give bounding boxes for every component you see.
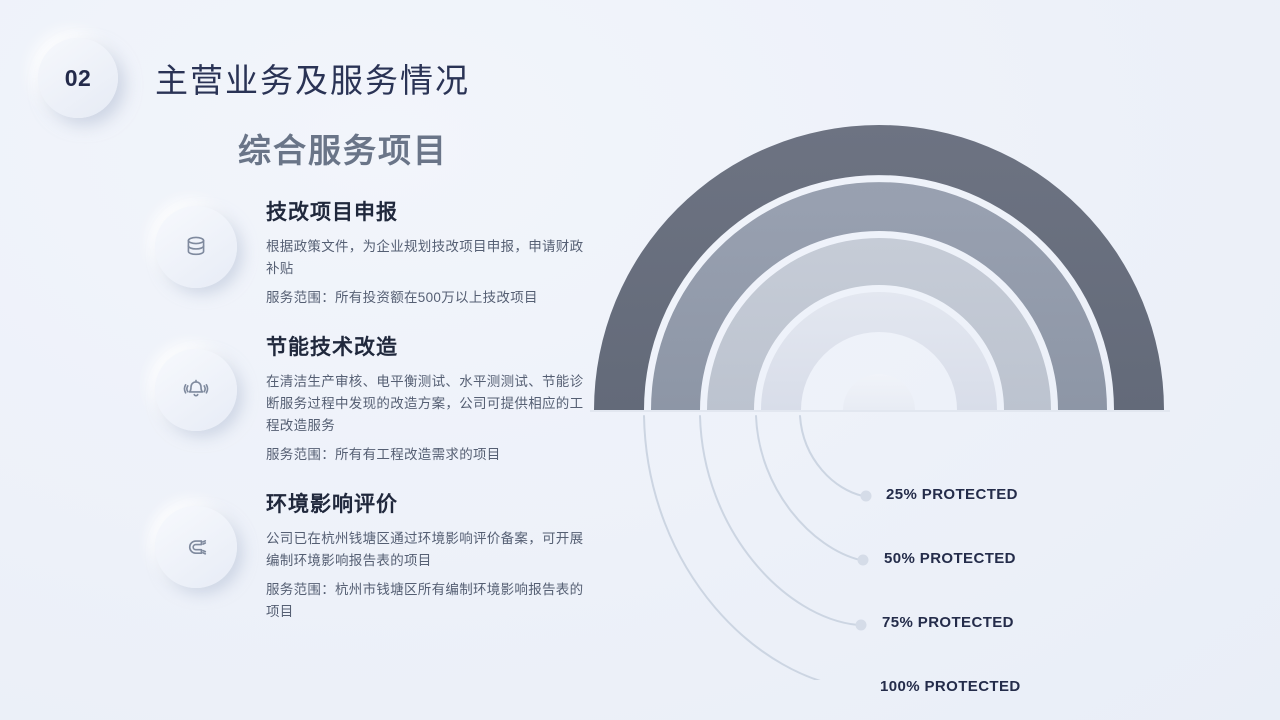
chart-legend: 25% PROTECTED 50% PROTECTED 75% PROTECTE… bbox=[560, 100, 1260, 680]
legend-label-75: 75% PROTECTED bbox=[882, 614, 1014, 631]
magnet-icon bbox=[155, 506, 237, 588]
list-item-heading: 技改项目申报 bbox=[266, 196, 585, 226]
list-item-desc: 在清洁生产审核、电平衡测试、水平测测试、节能诊断服务过程中发现的改造方案，公司可… bbox=[266, 371, 585, 437]
list-item-body: 环境影响评价 公司已在杭州钱塘区通过环境影响评价备案，可开展编制环境影响报告表的… bbox=[266, 488, 585, 623]
list-item-heading: 环境影响评价 bbox=[266, 488, 585, 518]
list-item: 技改项目申报 根据政策文件，为企业规划技改项目申报，申请财政补贴 服务范围：所有… bbox=[155, 196, 585, 309]
database-icon bbox=[155, 206, 237, 288]
list-item-scope: 服务范围：杭州市钱塘区所有编制环境影响报告表的项目 bbox=[266, 579, 585, 623]
list-item-body: 节能技术改造 在清洁生产审核、电平衡测试、水平测测试、节能诊断服务过程中发现的改… bbox=[266, 331, 585, 466]
list-item-heading: 节能技术改造 bbox=[266, 331, 585, 361]
section-number-badge: 02 bbox=[38, 38, 118, 118]
bell-icon bbox=[155, 349, 237, 431]
section-number: 02 bbox=[65, 65, 92, 92]
page-title: 综合服务项目 bbox=[238, 124, 448, 172]
protection-chart: 25% PROTECTED 50% PROTECTED 75% PROTECTE… bbox=[560, 100, 1260, 680]
list-item-desc: 根据政策文件，为企业规划技改项目申报，申请财政补贴 bbox=[266, 236, 585, 280]
slide: 02 主营业务及服务情况 综合服务项目 技改项目申报 根据政策文件，为企业规划技… bbox=[0, 0, 1280, 720]
list-item-body: 技改项目申报 根据政策文件，为企业规划技改项目申报，申请财政补贴 服务范围：所有… bbox=[266, 196, 585, 309]
list-item: 节能技术改造 在清洁生产审核、电平衡测试、水平测测试、节能诊断服务过程中发现的改… bbox=[155, 331, 585, 466]
section-title: 主营业务及服务情况 bbox=[155, 54, 470, 102]
list-item-desc: 公司已在杭州钱塘区通过环境影响评价备案，可开展编制环境影响报告表的项目 bbox=[266, 528, 585, 572]
service-item-list: 技改项目申报 根据政策文件，为企业规划技改项目申报，申请财政补贴 服务范围：所有… bbox=[155, 196, 585, 645]
legend-label-100: 100% PROTECTED bbox=[880, 678, 1021, 695]
list-item-scope: 服务范围：所有投资额在500万以上技改项目 bbox=[266, 287, 585, 309]
legend-label-25: 25% PROTECTED bbox=[886, 486, 1018, 503]
list-item-scope: 服务范围：所有有工程改造需求的项目 bbox=[266, 444, 585, 466]
list-item: 环境影响评价 公司已在杭州钱塘区通过环境影响评价备案，可开展编制环境影响报告表的… bbox=[155, 488, 585, 623]
legend-label-50: 50% PROTECTED bbox=[884, 550, 1016, 567]
